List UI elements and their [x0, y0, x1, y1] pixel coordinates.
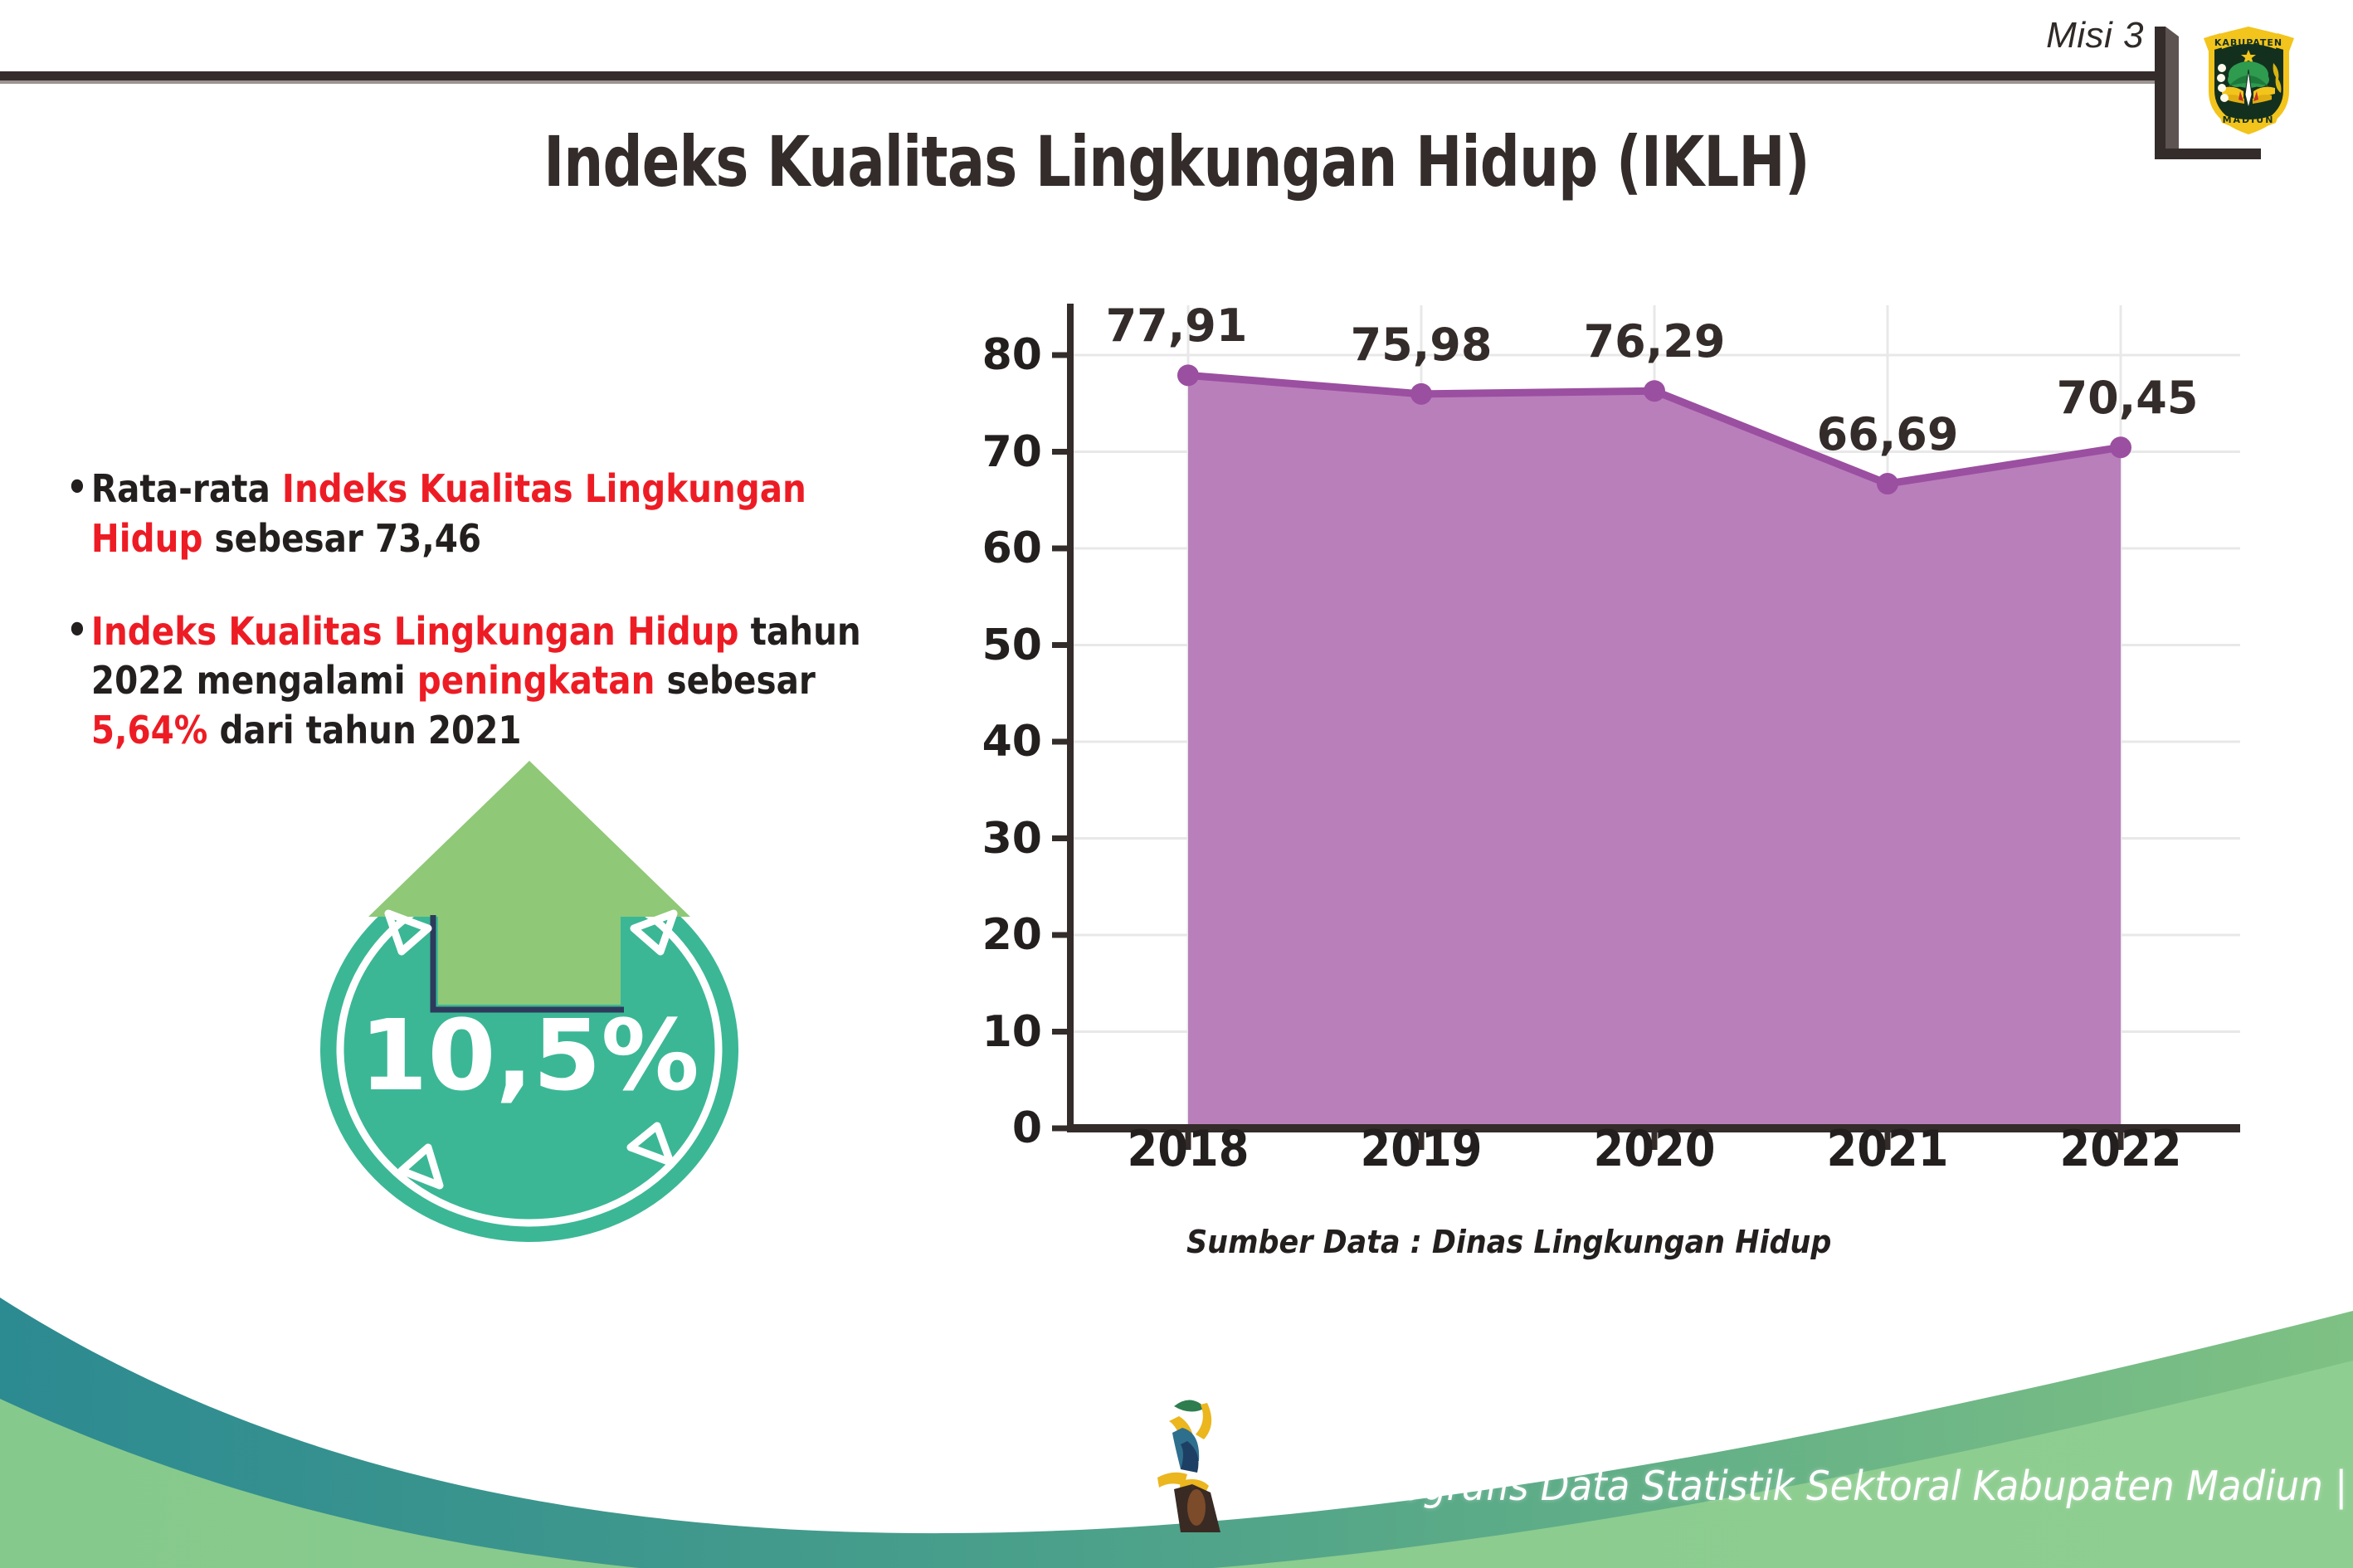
y-axis-tick-label: 40 — [982, 717, 1042, 767]
data-point — [1877, 473, 1898, 494]
x-axis-tick-label: 2022 — [2060, 1120, 2182, 1178]
bullet-highlight-text: peningkatan — [417, 658, 655, 703]
svg-text:KABUPATEN: KABUPATEN — [2214, 37, 2282, 48]
chart-canvas — [954, 299, 2282, 1178]
data-point-label: 76,29 — [1584, 315, 1726, 368]
data-point-label: 66,69 — [1817, 408, 1959, 460]
data-point-label: 77,91 — [1106, 299, 1248, 352]
y-axis-tick-label: 10 — [982, 1007, 1042, 1057]
bullet-text: Rata-rata — [91, 466, 282, 511]
bullet-text: sebesar — [655, 658, 815, 703]
list-item: Rata-rata Indeks Kualitas Lingkungan Hid… — [66, 465, 877, 564]
increase-badge: 10,5% — [315, 751, 747, 1249]
x-axis-tick-label: 2018 — [1128, 1120, 1250, 1178]
list-item: Indeks Kualitas Lingkungan Hidup tahun 2… — [66, 607, 877, 756]
data-point-label: 70,45 — [2057, 372, 2199, 424]
header-corner-vertical — [2155, 27, 2165, 159]
slide-root: Misi 3 KABUPATEN MADIUN Indeks Kualitas … — [0, 0, 2353, 1568]
data-point — [1177, 364, 1199, 386]
x-axis-tick-label: 2020 — [1594, 1120, 1716, 1178]
data-point — [1644, 380, 1665, 402]
bullet-text: sebesar 73,46 — [202, 516, 481, 561]
y-axis-tick-label: 80 — [982, 330, 1042, 380]
iklh-area-chart: 010203040506070802018201920202021202277,… — [954, 299, 2282, 1178]
y-axis-tick-label: 50 — [982, 621, 1042, 670]
svg-text:MADIUN: MADIUN — [2223, 114, 2275, 125]
svg-text:10,5%: 10,5% — [359, 998, 699, 1113]
bullet-highlight-text: 5,64% — [91, 708, 207, 752]
data-point — [1410, 383, 1432, 405]
header-rule — [0, 71, 2164, 80]
data-point — [2110, 436, 2131, 458]
page-title: Indeks Kualitas Lingkungan Hidup (IKLH) — [236, 121, 2118, 202]
media-infografis-logo-icon — [1149, 1391, 1240, 1536]
bullet-text: dari tahun 2021 — [207, 708, 521, 752]
bullet-list: Rata-rata Indeks Kualitas Lingkungan Hid… — [66, 465, 987, 799]
misi-label: Misi 3 — [2046, 15, 2144, 56]
badge-graphic: 10,5% — [315, 751, 747, 1249]
y-axis-tick-label: 0 — [1012, 1103, 1042, 1153]
x-axis-tick-label: 2019 — [1361, 1120, 1483, 1178]
data-point-label: 75,98 — [1351, 319, 1493, 371]
bullet-highlight-text: Indeks Kualitas Lingkungan Hidup — [91, 609, 739, 654]
kabupaten-madiun-emblem-icon: KABUPATEN MADIUN — [2197, 15, 2301, 139]
y-axis-tick-label: 30 — [982, 814, 1042, 864]
x-axis-tick-label: 2021 — [1827, 1120, 1949, 1178]
header-corner-bevel — [2165, 27, 2179, 159]
footer-label: Media Infografis Data Statistik Sektoral… — [1228, 1463, 2347, 1510]
area-fill — [1188, 375, 2121, 1128]
y-axis-tick-label: 20 — [982, 910, 1042, 960]
header-rule-shadow — [0, 80, 2164, 84]
y-axis-tick-label: 70 — [982, 427, 1042, 477]
header-corner-foot — [2155, 149, 2261, 159]
y-axis-tick-label: 60 — [982, 523, 1042, 573]
footer-wave: Media Infografis Data Statistik Sektoral… — [0, 1236, 2353, 1568]
